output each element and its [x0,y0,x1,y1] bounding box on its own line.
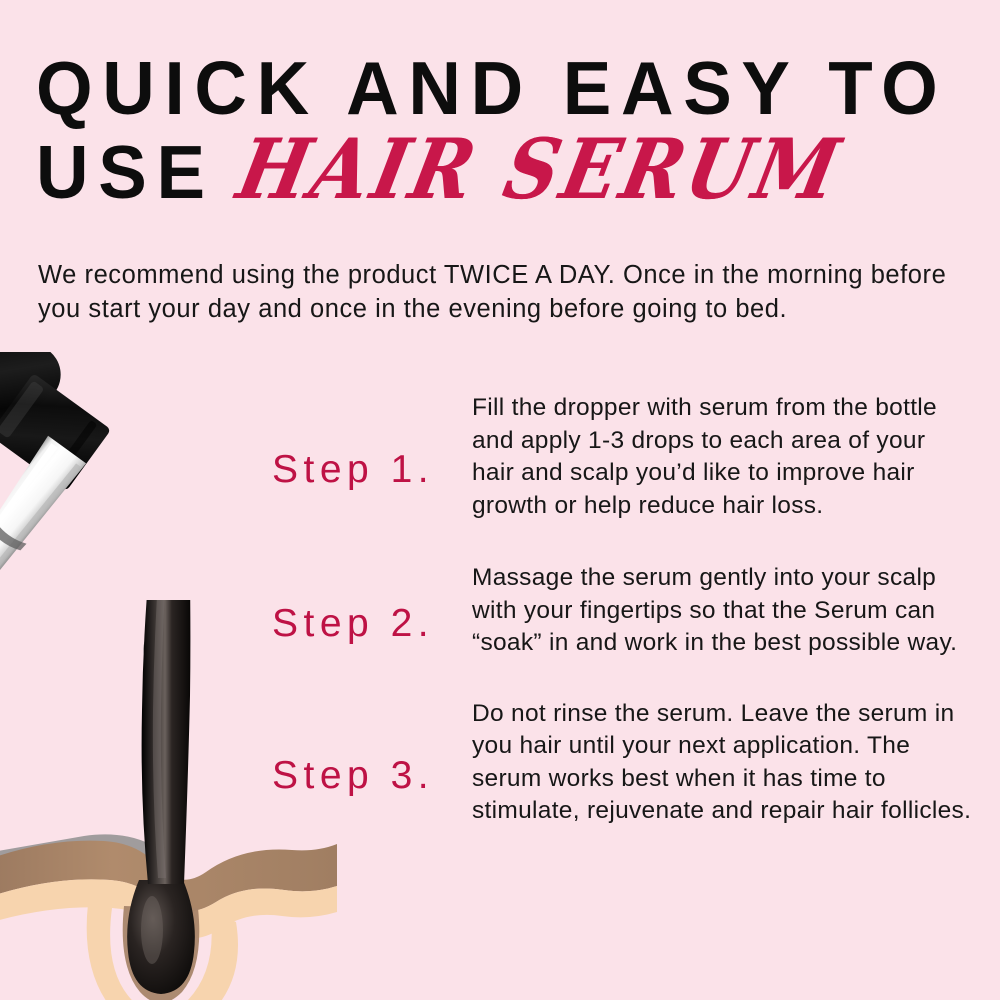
step-1-label: Step 1. [272,392,470,492]
step-2-label: Step 2. [272,562,470,646]
glass-dropper-pipette-icon [0,352,290,712]
usage-recommendation-text: We recommend using the product TWICE A D… [38,258,968,326]
list-item: Step 2. Massage the serum gently into yo… [272,562,972,660]
heading-line-1: QUICK AND EASY TO [36,46,938,130]
steps-list: Step 1. Fill the dropper with serum from… [272,392,972,858]
step-1-text: Fill the dropper with serum from the bot… [470,392,972,522]
list-item: Step 3. Do not rinse the serum. Leave th… [272,698,972,828]
heading-line-2-text: USE [36,130,215,214]
hair-serum-instruction-poster: QUICK AND EASY TO USE HAIR SERUM We reco… [0,0,1000,1000]
page-title: QUICK AND EASY TO USE HAIR SERUM [36,46,966,215]
step-2-text: Massage the serum gently into your scalp… [470,562,972,660]
step-3-label: Step 3. [272,698,470,798]
list-item: Step 1. Fill the dropper with serum from… [272,392,972,522]
heading-script-hair-serum: HAIR SERUM [230,123,850,217]
heading-line-2: USE HAIR SERUM [36,130,938,215]
step-3-text: Do not rinse the serum. Leave the serum … [470,698,972,828]
